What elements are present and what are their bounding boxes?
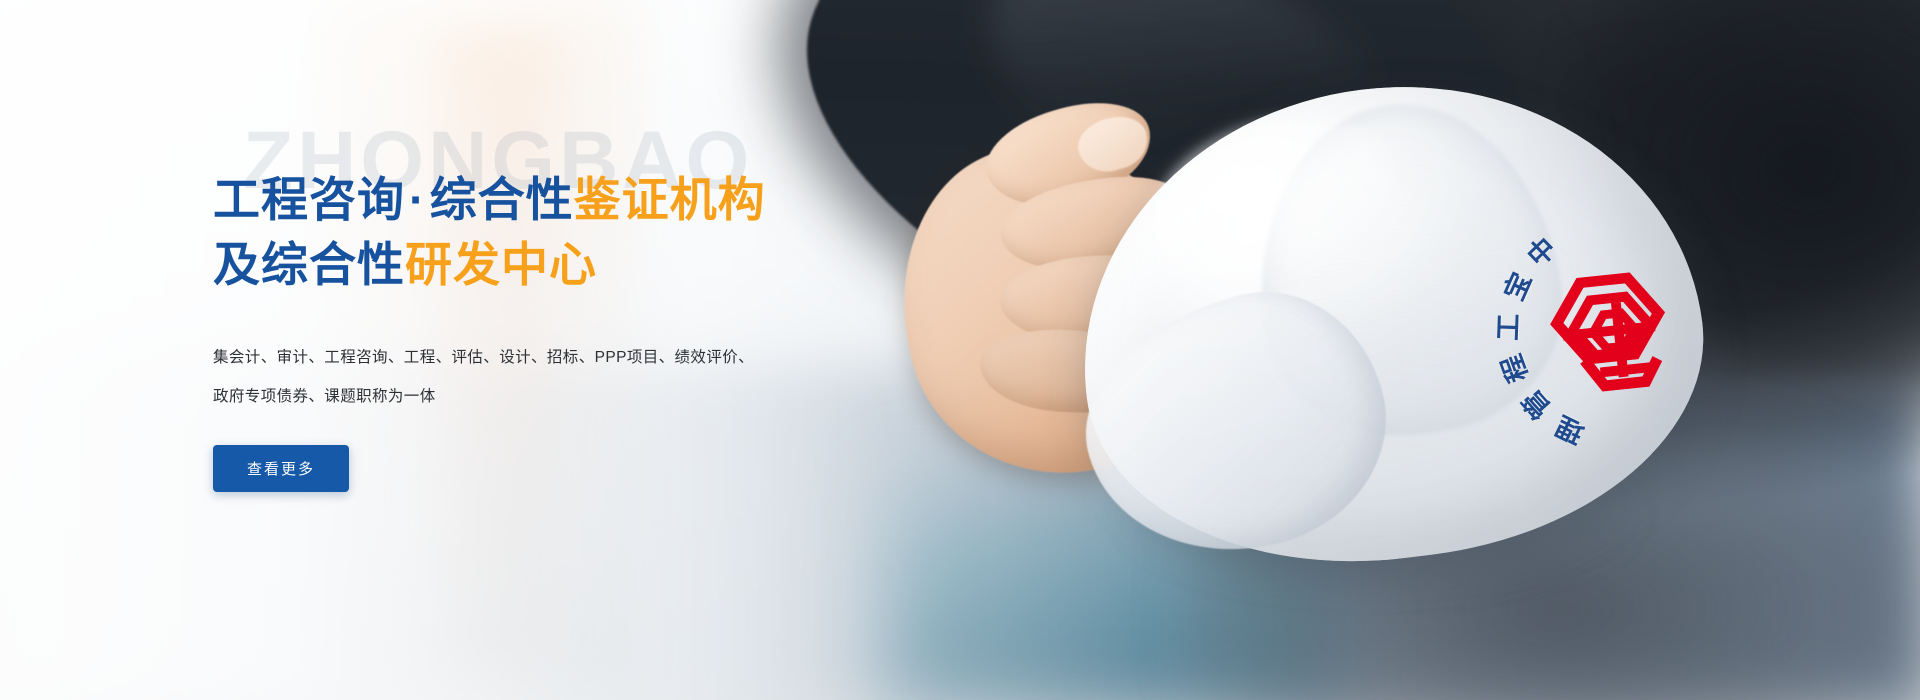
headline-line-1: 工程咨询·综合性鉴证机构 [213,168,933,233]
logo-arc-text: 中宝工程管理 [1475,183,1762,479]
subtitle-line-2: 政府专项债券、课题职称为一体 [213,377,813,417]
headline-segment-blue-2: 综合性 [430,173,574,226]
hero-content: ZHONGBAO 工程咨询·综合性鉴证机构 及综合性研发中心 集会计、审计、工程… [213,120,933,492]
logo-arc-char: 程 [1490,350,1536,389]
logo-arc-char: 宝 [1492,265,1539,306]
company-logo: 中宝工程管理 [1475,183,1762,479]
headline-line2-segment-blue: 及综合性 [213,238,405,291]
headline-line2-segment-orange: 研发中心 [405,238,597,291]
headline-line-2: 及综合性研发中心 [213,233,933,298]
logo-arc-char: 理 [1548,408,1589,455]
headline-segment-blue: 工程咨询 [213,173,405,226]
logo-arc-char: 工 [1486,313,1526,341]
hero-subtitle: 集会计、审计、工程咨询、工程、评估、设计、招标、PPP项目、绩效评价、 政府专项… [213,338,813,417]
page-title: 工程咨询·综合性鉴证机构 及综合性研发中心 [213,168,933,298]
view-more-button[interactable]: 查看更多 [213,445,349,492]
headline-segment-orange: 鉴证机构 [574,173,766,226]
hero-banner: 中宝工程管理 ZHONGBAO 工程咨询·综合性鉴证机构 及综合性研发中心 集会… [0,0,1920,700]
subtitle-line-1: 集会计、审计、工程咨询、工程、评估、设计、招标、PPP项目、绩效评价、 [213,338,813,378]
headline-separator-dot: · [405,173,430,226]
logo-arc-char: 中 [1517,227,1564,274]
logo-arc-char: 管 [1511,383,1558,429]
